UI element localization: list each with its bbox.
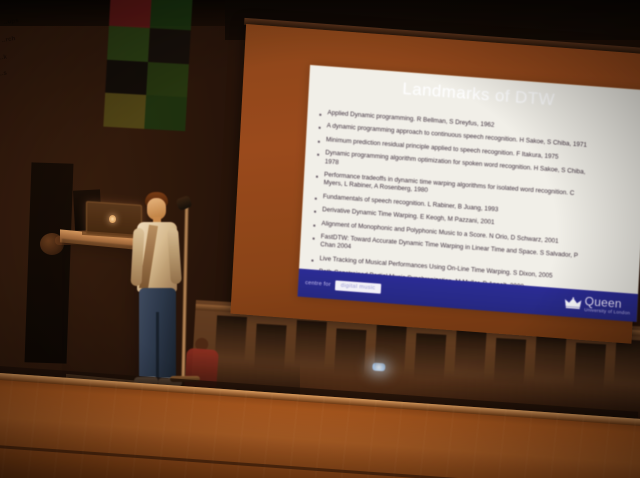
queen-mary-wordmark: Queen University of London — [584, 295, 631, 316]
bullet-dot-icon — [313, 238, 315, 240]
presenter-leg-split — [156, 312, 159, 378]
slide-title: Landmarks of DTW — [402, 79, 556, 110]
back-wall-panel — [334, 328, 367, 376]
banner-panel-5 — [146, 62, 189, 98]
back-wall-panel — [294, 320, 327, 368]
bullet-dot-icon — [316, 176, 318, 178]
queen-mary-logo: Queen University of London — [564, 294, 631, 317]
banner-panel-2 — [107, 26, 150, 62]
back-wall-panel — [534, 334, 567, 382]
university-sub: University of London — [584, 308, 630, 316]
wall-notice-2: ..k — [0, 53, 8, 63]
c4dm-logo: centre for digital music — [305, 278, 382, 294]
wall-colour-banner — [103, 0, 192, 131]
bullet-dot-icon — [319, 114, 321, 116]
screen-surface: Landmarks of DTW Applied Dynamic program… — [230, 24, 640, 344]
banner-panel-3 — [148, 28, 191, 64]
presentation-slide: Landmarks of DTW Applied Dynamic program… — [297, 65, 640, 322]
bullet-dot-icon — [318, 140, 320, 142]
banner-panel-6 — [103, 93, 146, 129]
c4dm-prefix-label: centre for — [305, 280, 331, 288]
banner-panel-1 — [150, 0, 193, 30]
projection-screen: Landmarks of DTW Applied Dynamic program… — [231, 8, 639, 337]
presenter — [128, 192, 186, 392]
crown-icon — [564, 297, 582, 310]
back-wall-panel — [494, 338, 527, 386]
back-wall-panel — [254, 324, 287, 372]
bullet-dot-icon — [317, 154, 319, 156]
back-wall-panel — [374, 325, 407, 373]
banner-panel-4 — [105, 59, 148, 95]
wall-notice-3: ..s — [0, 69, 8, 79]
bullet-dot-icon — [315, 197, 317, 199]
bullet-dot-icon — [311, 259, 313, 261]
bullet-dot-icon — [319, 127, 321, 129]
c4dm-badge-label: digital music — [335, 280, 382, 293]
back-wall-panel — [414, 333, 447, 381]
back-wall-panel — [573, 343, 606, 391]
back-wall-panel — [614, 339, 640, 387]
apple-logo-icon — [109, 215, 116, 223]
back-wall-panel — [454, 330, 487, 378]
banner-panel-0 — [109, 0, 152, 28]
bullet-dot-icon — [314, 211, 316, 213]
photo-scene: ..ups..rch..k..s Landmarks of DTW Applie… — [0, 0, 640, 478]
banner-panel-7 — [144, 95, 187, 131]
bullet-dot-icon — [313, 224, 315, 226]
